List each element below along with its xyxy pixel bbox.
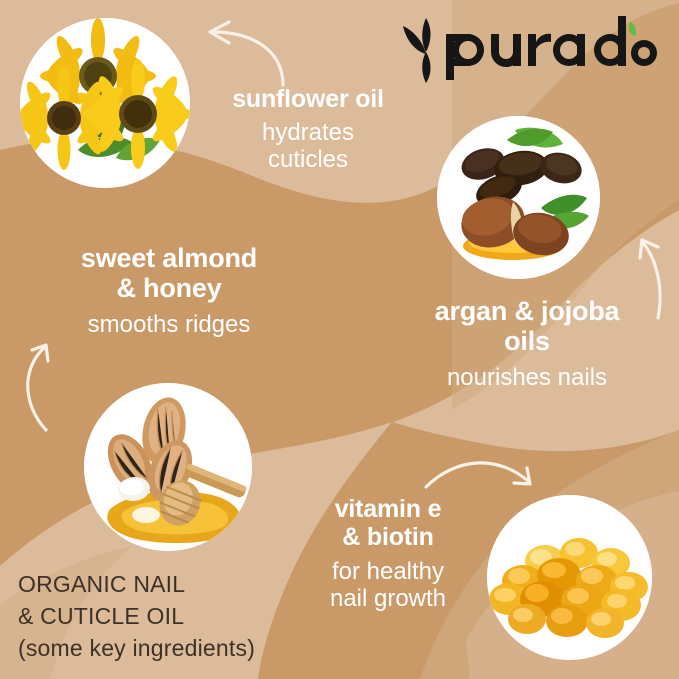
almond-title-line2: & honey [24,273,314,303]
logo-leaf-apostrophe-icon [629,22,636,36]
sunflower-title: sunflower oil [183,85,433,113]
product-caption-line2: & CUTICLE OIL [18,600,318,632]
sunflower-photo [20,18,190,188]
vitamin-capsules-photo [487,495,652,660]
argan-jojoba-photo [437,116,600,279]
argan-title-line2: oils [382,326,672,356]
product-caption: ORGANIC NAIL & CUTICLE OIL (some key ing… [18,568,318,665]
vitamin-title-line1: vitamin e [281,495,495,523]
sunflower-benefit-line2: cuticles [183,147,433,174]
argan-benefit-line1: nourishes nails [382,365,672,392]
sunflower-benefit-line1: hydrates [183,120,433,147]
ingredient-sunflower-text: sunflower oil hydrates cuticles [183,85,433,174]
pura-dor-logo-svg [396,12,658,84]
almond-benefit-line1: smooths ridges [24,312,314,339]
product-caption-line3: (some key ingredients) [18,632,318,664]
argan-title-line1: argan & jojoba [382,296,672,326]
product-caption-line1: ORGANIC NAIL [18,568,318,600]
almond-honey-photo [84,383,252,551]
ingredient-argan-text: argan & jojoba oils nourishes nails [382,296,672,392]
ingredient-infographic-poster: sunflower oil hydrates cuticles sweet al… [0,0,679,679]
ingredient-almond-text: sweet almond & honey smooths ridges [24,243,314,339]
vitamin-title-line2: & biotin [281,523,495,551]
brand-logo [396,12,658,84]
sprout-leaves-icon [403,18,431,83]
almond-title-line1: sweet almond [24,243,314,273]
